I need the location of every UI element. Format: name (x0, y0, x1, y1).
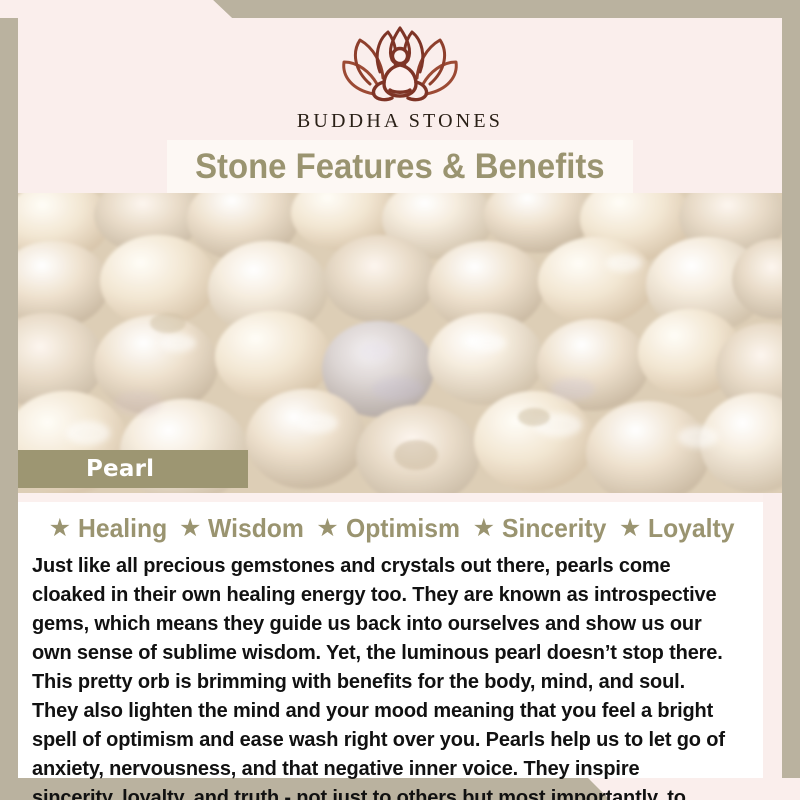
star-icon: ★ (473, 516, 495, 541)
benefit-item-sincerity: ★ Sincerity (466, 513, 612, 544)
benefit-item-healing: ★ Healing (42, 513, 172, 544)
star-icon: ★ (316, 516, 338, 541)
star-icon: ★ (49, 516, 71, 541)
star-icon: ★ (619, 516, 641, 541)
stone-description: Just like all precious gemstones and cry… (32, 551, 727, 800)
stone-name-label: Pearl (18, 456, 154, 482)
pearl-photo-illustration (18, 193, 782, 493)
benefit-item-wisdom: ★ Wisdom (172, 513, 309, 544)
benefit-label: Optimism (346, 513, 460, 544)
benefit-label: Wisdom (208, 513, 304, 544)
benefit-item-loyalty: ★ Loyalty (612, 513, 739, 544)
panel-top-tint (18, 493, 763, 502)
hero-pearl-photo (18, 193, 782, 493)
benefit-item-optimism: ★ Optimism (309, 513, 465, 544)
brand-logo: BUDDHA STONES (0, 18, 800, 140)
brand-name: BUDDHA STONES (297, 110, 503, 133)
content-panel: ★ Healing ★ Wisdom ★ Optimism ★ Sincerit… (18, 493, 763, 778)
benefit-label: Loyalty (648, 513, 734, 544)
poster-canvas: Pearl (0, 0, 800, 800)
benefit-label: Healing (78, 513, 167, 544)
page-title: Stone Features & Benefits (195, 147, 605, 187)
title-banner: Stone Features & Benefits (167, 140, 633, 193)
star-icon: ★ (179, 516, 201, 541)
stone-name-tag: Pearl (18, 450, 248, 488)
lotus-meditation-icon (334, 22, 466, 108)
benefit-label: Sincerity (502, 513, 606, 544)
